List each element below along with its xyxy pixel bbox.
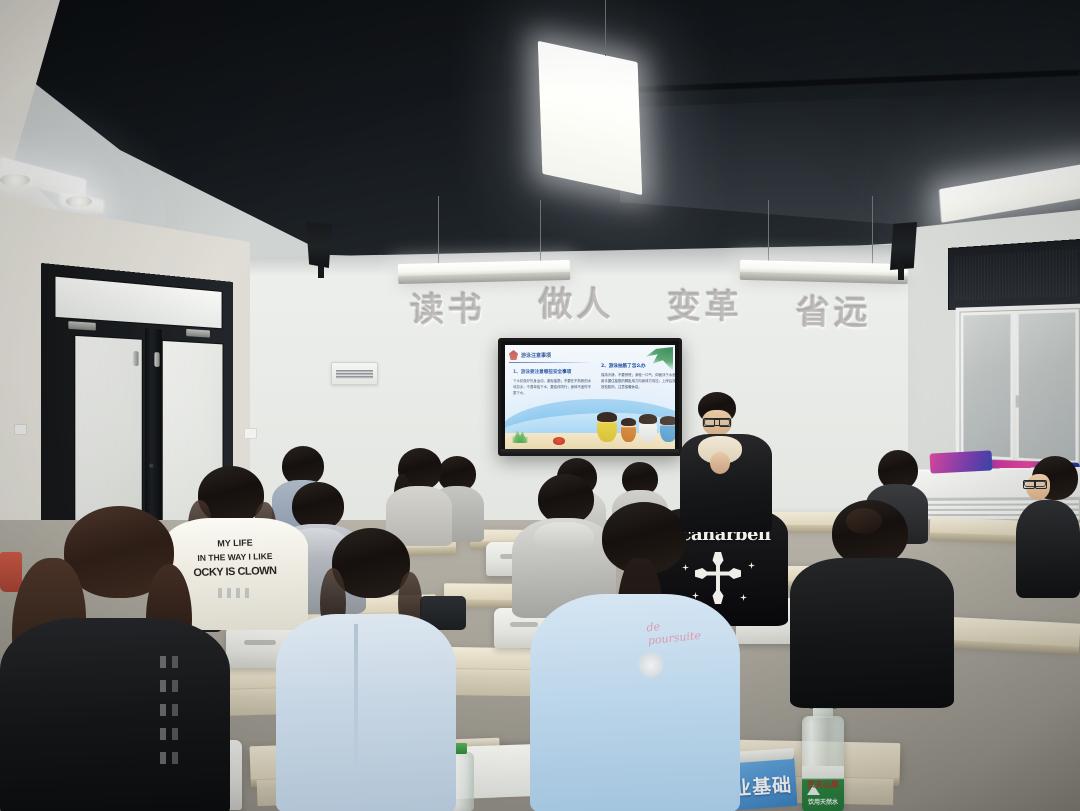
wall-speaker-right [890, 222, 917, 270]
student-glasses-far-right [1016, 456, 1080, 596]
motto-char: 革 [705, 279, 741, 328]
speaker-mount-left [318, 262, 324, 278]
student-light-blue-shirt [276, 528, 456, 811]
door-handle-right[interactable] [154, 352, 159, 367]
window-upper-dark-panel [948, 239, 1080, 310]
slide-left-body: 下水前做好热身运动，避免抽筋；不要在不熟悉的水域游泳；不要单独下水，要结伴同行；… [513, 379, 591, 397]
presenter-collar-skin [710, 452, 730, 474]
wall-calligraphy: 读 书 做 人 变 革 省 远 [410, 272, 870, 328]
speaker-mount-right [898, 264, 904, 280]
pendant-rod-3 [768, 200, 769, 264]
hoodie-stripe [160, 656, 166, 776]
torso [1016, 500, 1080, 598]
motto-char: 变 [667, 278, 703, 327]
slide-right-body: 保持冷静，不要惊慌；深吸一口气，仰面浮于水面；用手握住抽筋的脚趾用力向身体方向拉… [601, 373, 675, 391]
window-pane-left[interactable] [961, 312, 1012, 459]
water-bottle[interactable]: 农夫山泉 饮用天然水 [800, 694, 846, 811]
student-powder-blue-hoodie: de poursuite [530, 502, 740, 811]
motto-char: 人 [577, 277, 613, 326]
window-latch[interactable] [1015, 395, 1018, 408]
door-closer-left [68, 321, 95, 330]
door-closer-right [186, 329, 210, 338]
bottle-label: 农夫山泉 饮用天然水 [802, 766, 844, 811]
crab-icon [553, 437, 565, 445]
cartoon-child-1 [597, 412, 617, 442]
shirt [276, 614, 456, 811]
hoodie-graphic-emblem [638, 652, 664, 678]
motto-char: 读 [410, 282, 447, 331]
downlight-2 [0, 174, 30, 186]
hoodie [790, 558, 954, 708]
student-black-hoodie-front-left [0, 506, 230, 811]
motto-char: 远 [834, 285, 871, 334]
wall-air-vent [331, 362, 378, 385]
hair-bun [846, 508, 882, 534]
motto-char: 省 [796, 284, 833, 333]
slide-logo-icon [509, 350, 518, 360]
smartboard-bezel [501, 449, 679, 456]
pendant-rod-1 [438, 196, 439, 264]
slide-left-heading: 1、游泳要注意哪些安全事项 [513, 369, 591, 375]
wall-outlet-1 [244, 428, 257, 439]
classroom-photo: 读 书 做 人 变 革 省 远 游泳注意事项 [0, 0, 1080, 811]
pink-item-on-sill [930, 450, 993, 473]
presenter [676, 392, 772, 532]
motto-char: 做 [539, 277, 575, 326]
slide-left-column: 1、游泳要注意哪些安全事项 下水前做好热身运动，避免抽筋；不要在不熟悉的水域游泳… [513, 369, 591, 397]
slide-title-bar: 游泳注意事项 [509, 349, 595, 361]
slide-right-column: 2、游泳抽筋了怎么办 保持冷静，不要惊慌；深吸一口气，仰面浮于水面；用手握住抽筋… [601, 363, 675, 391]
bottle-subtitle: 饮用天然水 [802, 797, 844, 806]
glasses-icon [704, 418, 730, 426]
hoodie [0, 618, 230, 811]
cartoon-child-3 [639, 414, 657, 442]
pendant-rod-4 [872, 196, 873, 264]
bottle-brand: 农夫山泉 [802, 779, 844, 790]
student-black-hoodie-right [790, 500, 954, 706]
ceiling-panel-light-1 [538, 41, 643, 195]
wall-outlet-2 [14, 424, 27, 435]
downlight-1 [66, 196, 92, 207]
motto-char: 书 [448, 281, 485, 330]
cartoon-child-4 [660, 416, 675, 442]
pendant-rod-ceiling [605, 0, 606, 56]
slide-title: 游泳注意事项 [521, 352, 551, 359]
hoodie-stripe [172, 656, 178, 776]
door-handle-left[interactable] [133, 351, 138, 366]
cartoon-child-2 [621, 418, 636, 442]
window-pane-right[interactable] [1016, 310, 1077, 463]
interactive-smartboard[interactable]: 游泳注意事项 1、游泳要注意哪些安全事项 下水前做好热身运动，避免抽筋；不要在不… [498, 338, 682, 456]
shirt-placket [354, 624, 358, 774]
pendant-rod-2 [540, 200, 541, 264]
glasses-icon [1024, 480, 1046, 487]
slide-title-rule [509, 362, 593, 363]
window-frame [956, 304, 1080, 470]
slide-right-heading: 2、游泳抽筋了怎么办 [601, 363, 675, 369]
slide-screen: 游泳注意事项 1、游泳要注意哪些安全事项 下水前做好热身运动，避免抽筋；不要在不… [505, 345, 675, 449]
